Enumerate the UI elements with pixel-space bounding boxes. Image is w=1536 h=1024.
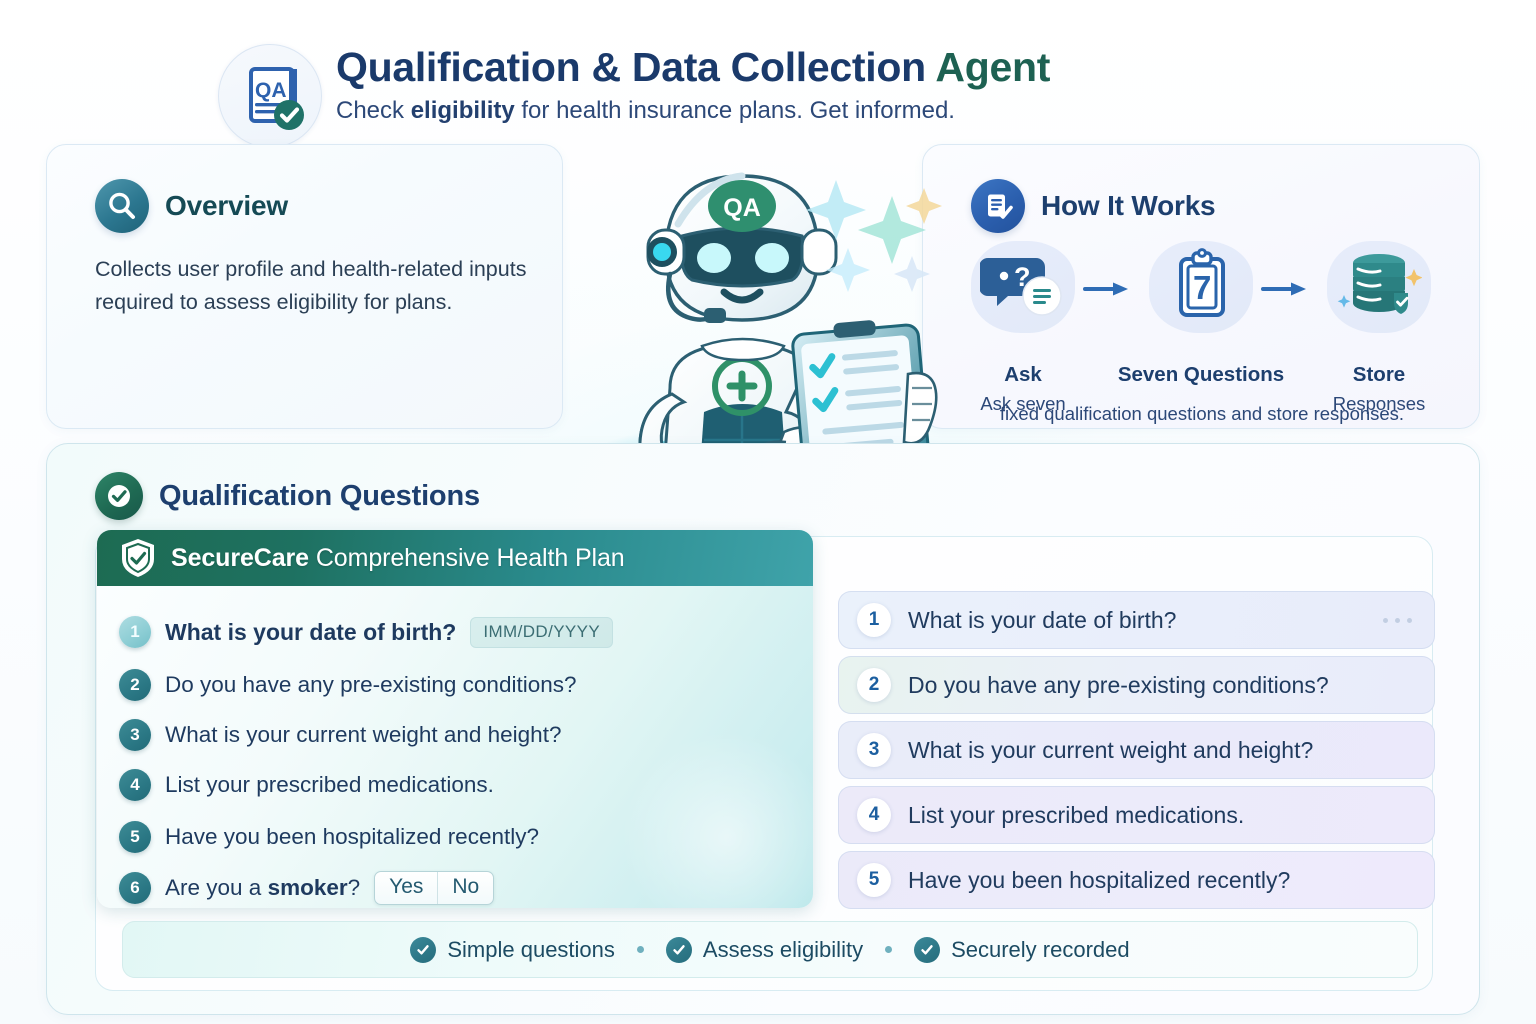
question-bubbles-icon: ? xyxy=(971,241,1075,333)
sparkle-decorations xyxy=(800,170,950,310)
footer-item-assess-eligibility: Assess eligibility xyxy=(666,937,863,963)
question-text: Do you have any pre-existing conditions? xyxy=(165,672,577,698)
list-item-number: 5 xyxy=(857,863,891,897)
subtitle-pre: Check xyxy=(336,97,411,124)
question-number-badge: 6 xyxy=(119,872,151,904)
question-number-badge: 1 xyxy=(119,616,151,648)
question-text: List your prescribed medications. xyxy=(165,772,494,798)
shield-check-icon xyxy=(119,537,157,579)
clipboard-seven-icon: 7 xyxy=(1149,241,1253,333)
check-circle-icon xyxy=(666,937,692,963)
plan-card: SecureCare Comprehensive Health Plan 1 W… xyxy=(97,530,813,908)
list-item-label: What is your date of birth? xyxy=(908,607,1176,634)
check-circle-icon xyxy=(914,937,940,963)
plan-card-body: 1 What is your date of birth? IMM/DD/YYY… xyxy=(97,586,813,908)
question-row-3[interactable]: 3 What is your current weight and height… xyxy=(119,719,561,751)
list-item[interactable]: 5 Have you been hospitalized recently? xyxy=(838,851,1435,909)
smoker-no-option[interactable]: No xyxy=(438,872,493,904)
database-check-icon xyxy=(1327,241,1431,333)
list-item-number: 3 xyxy=(857,733,891,767)
step-label-store: Store xyxy=(1337,363,1421,387)
check-circle-icon xyxy=(410,937,436,963)
check-circle-icon xyxy=(95,472,143,520)
question-text: Are you a smoker? xyxy=(165,875,360,901)
app-logo-badge: QA xyxy=(218,44,322,148)
page-title: Qualification & Data Collection Agent xyxy=(336,44,1336,91)
qualification-title: Qualification Questions xyxy=(159,480,480,513)
plan-card-header: SecureCare Comprehensive Health Plan xyxy=(97,530,813,586)
how-it-works-footline: fixed qualification questions and store … xyxy=(923,403,1481,425)
magnifier-icon xyxy=(95,179,149,233)
footer-item-label: Simple questions xyxy=(447,937,615,963)
qualification-panel-header: Qualification Questions xyxy=(95,472,480,520)
subtitle-post: for health insurance plans. Get informed… xyxy=(515,97,955,124)
overview-card-header: Overview xyxy=(95,179,288,233)
footer-item-label: Assess eligibility xyxy=(703,937,863,963)
step-seven-questions: 7 xyxy=(1139,241,1263,333)
question-number-badge: 4 xyxy=(119,769,151,801)
overview-body-text: Collects user profile and health-related… xyxy=(95,253,535,318)
list-item[interactable]: 3 What is your current weight and height… xyxy=(838,721,1435,779)
list-item-label: Have you been hospitalized recently? xyxy=(908,867,1290,894)
smoker-yes-option[interactable]: Yes xyxy=(375,872,437,904)
question-row-6[interactable]: 6 Are you a smoker? Yes No xyxy=(119,871,494,905)
ellipsis-icon xyxy=(1383,618,1412,623)
header-text-block: Qualification & Data Collection Agent Ch… xyxy=(336,44,1336,126)
mascot-qa-badge-text: QA xyxy=(723,194,761,222)
page-title-main: Qualification & Data Collection xyxy=(336,44,935,90)
document-check-icon xyxy=(971,179,1025,233)
list-item-label: Do you have any pre-existing conditions? xyxy=(908,672,1329,699)
question-number-badge: 2 xyxy=(119,669,151,701)
question-summary-list: 1 What is your date of birth? 2 Do you h… xyxy=(838,591,1435,916)
question-row-4[interactable]: 4 List your prescribed medications. xyxy=(119,769,494,801)
document-check-icon: QA xyxy=(219,45,323,149)
plan-brand: SecureCare xyxy=(171,544,309,572)
footer-separator-dot xyxy=(885,946,892,953)
footer-item-label: Securely recorded xyxy=(951,937,1130,963)
plan-card-title: SecureCare Comprehensive Health Plan xyxy=(171,544,625,573)
list-item-number: 2 xyxy=(857,668,891,702)
question-row-1[interactable]: 1 What is your date of birth? IMM/DD/YYY… xyxy=(119,616,613,648)
how-it-works-card: How It Works ? xyxy=(922,144,1480,429)
svg-text:QA: QA xyxy=(255,79,287,102)
svg-text:7: 7 xyxy=(1193,269,1211,306)
question-number-badge: 5 xyxy=(119,821,151,853)
arrow-right-icon xyxy=(1083,281,1131,297)
list-item[interactable]: 2 Do you have any pre-existing condition… xyxy=(838,656,1435,714)
footer-feature-strip: Simple questions Assess eligibility Secu… xyxy=(122,921,1418,978)
step-store xyxy=(1317,241,1441,333)
question-row-5[interactable]: 5 Have you been hospitalized recently? xyxy=(119,821,539,853)
list-item-number: 1 xyxy=(857,603,891,637)
how-it-works-card-header: How It Works xyxy=(971,179,1215,233)
footer-item-simple-questions: Simple questions xyxy=(410,937,615,963)
list-item[interactable]: 1 What is your date of birth? xyxy=(838,591,1435,649)
list-item-label: List your prescribed medications. xyxy=(908,802,1244,829)
smoker-yes-no-toggle[interactable]: Yes No xyxy=(374,871,494,905)
overview-card: Overview Collects user profile and healt… xyxy=(46,144,563,429)
footer-item-securely-recorded: Securely recorded xyxy=(914,937,1130,963)
page-header: QA Qualification & Data Collection Agent… xyxy=(0,18,1536,138)
question-number-badge: 3 xyxy=(119,719,151,751)
subtitle-bold: eligibility xyxy=(411,97,515,124)
list-item-number: 4 xyxy=(857,798,891,832)
question-text-post: ? xyxy=(348,875,361,900)
question-text-pre: Are you a xyxy=(165,875,268,900)
list-item[interactable]: 4 List your prescribed medications. xyxy=(838,786,1435,844)
step-label-ask: Ask xyxy=(981,363,1065,387)
footer-separator-dot xyxy=(637,946,644,953)
how-it-works-steps: ? 7 xyxy=(943,241,1461,361)
how-it-works-title: How It Works xyxy=(1041,190,1215,222)
plan-name: Comprehensive Health Plan xyxy=(309,544,625,572)
overview-title: Overview xyxy=(165,190,288,222)
date-of-birth-input[interactable]: IMM/DD/YYYY xyxy=(470,617,613,648)
arrow-right-icon xyxy=(1261,281,1309,297)
list-item-label: What is your current weight and height? xyxy=(908,737,1313,764)
step-label-seven-questions: Seven Questions xyxy=(1111,363,1291,387)
question-text: What is your date of birth? xyxy=(165,619,456,646)
question-row-2[interactable]: 2 Do you have any pre-existing condition… xyxy=(119,669,577,701)
page-subtitle: Check eligibility for health insurance p… xyxy=(336,96,1336,126)
question-text: Have you been hospitalized recently? xyxy=(165,824,539,850)
page-title-accent: Agent xyxy=(935,44,1050,90)
step-ask: ? xyxy=(961,241,1085,333)
question-text: What is your current weight and height? xyxy=(165,722,561,748)
question-text-bold: smoker xyxy=(268,875,348,900)
